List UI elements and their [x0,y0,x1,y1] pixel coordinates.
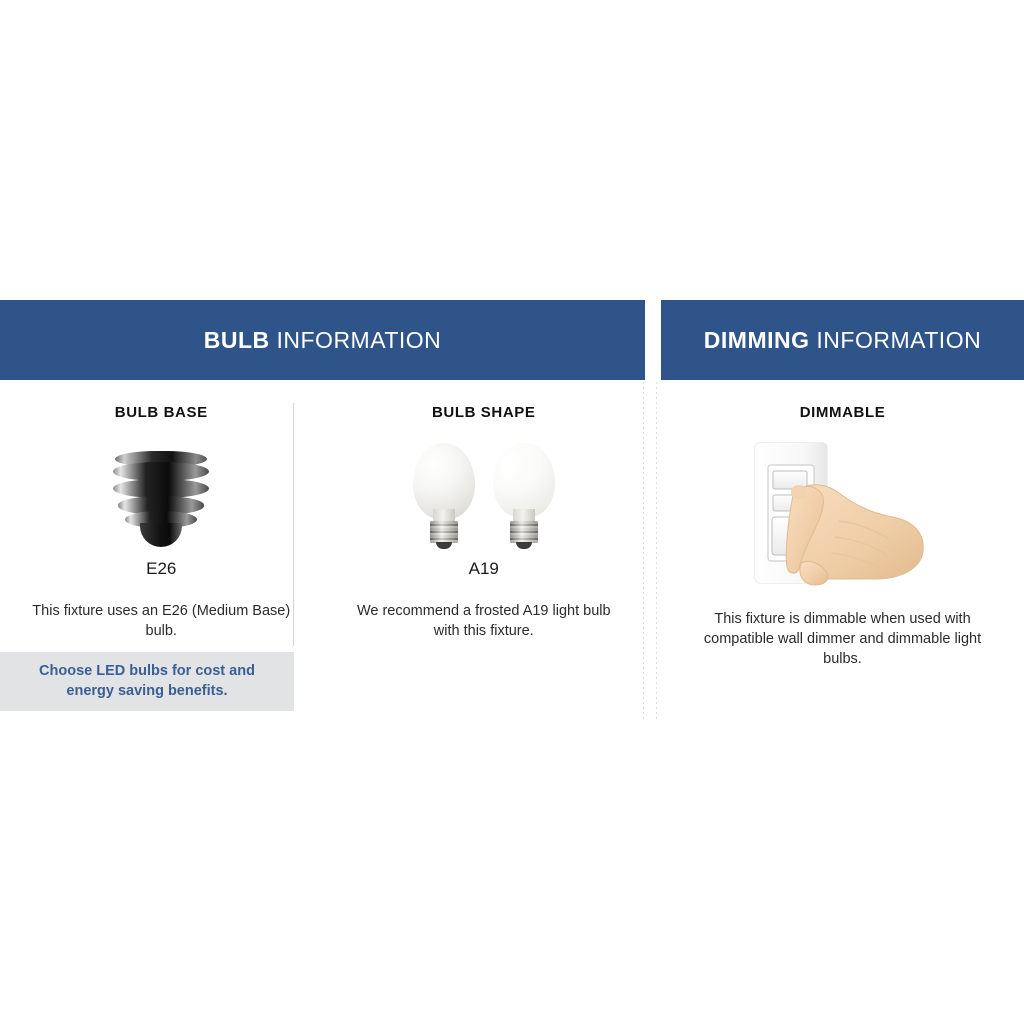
bulb-information-header: BULB INFORMATION [0,300,645,380]
led-bulb-icon [493,443,555,549]
bulb-shape-spec: A19 [323,559,646,579]
bulb-glass [413,443,475,519]
column-bulb-shape: BULB SHAPE A [323,404,646,641]
e26-lamp-base-icon [109,451,213,549]
dimmable-artwork [661,437,1024,587]
bulb-shape-description: We recommend a frosted A19 light bulb wi… [354,601,614,641]
bulb-base-description: This fixture uses an E26 (Medium Base) b… [31,601,291,641]
bulb-foot-contact [436,542,452,549]
bulb-shape-title: BULB SHAPE [323,404,646,421]
dimming-header-strong: DIMMING [704,327,810,353]
column-dimmable: DIMMABLE [661,404,1024,669]
bulb-header-rest: INFORMATION [270,327,442,353]
bulb-shape-artwork [323,437,646,549]
bulb-glass [493,443,555,517]
wall-dimmer-switch-with-hand-icon [743,437,943,587]
incandescent-bulb-icon [413,443,475,549]
bulb-screw-base [510,521,538,543]
dimmable-title: DIMMABLE [661,404,1024,421]
bulb-base-spec: E26 [0,559,323,579]
bulb-columns: BULB BASE E26 This fixture uses an E26 (… [0,380,645,641]
e26-tip [140,523,182,547]
bulb-screw-base [430,521,458,543]
bulb-information-panel: BULB INFORMATION BULB BASE E26 This fixt… [0,300,645,641]
dimming-information-panel: DIMMING INFORMATION DIMMABLE [661,300,1024,669]
bulb-header-strong: BULB [204,327,270,353]
panel-dotted-divider-right [656,382,657,720]
panel-dotted-divider-left [643,382,644,720]
dimmable-description: This fixture is dimmable when used with … [693,609,993,669]
led-callout-box: Choose LED bulbs for cost and energy sav… [0,652,294,711]
bulb-information-header-text: BULB INFORMATION [204,327,442,354]
dimming-information-header-text: DIMMING INFORMATION [704,327,981,354]
column-bulb-base: BULB BASE E26 This fixture uses an E26 (… [0,404,323,641]
dimming-information-header: DIMMING INFORMATION [661,300,1024,380]
a19-light-bulb-icon [413,443,555,549]
dimming-columns: DIMMABLE [661,380,1024,669]
dimming-header-rest: INFORMATION [810,327,982,353]
bulb-columns-divider [293,403,294,646]
bulb-base-title: BULB BASE [0,404,323,421]
led-callout-text: Choose LED bulbs for cost and energy sav… [27,662,267,701]
bulb-base-artwork [0,437,323,549]
bulb-foot-contact [516,542,532,549]
